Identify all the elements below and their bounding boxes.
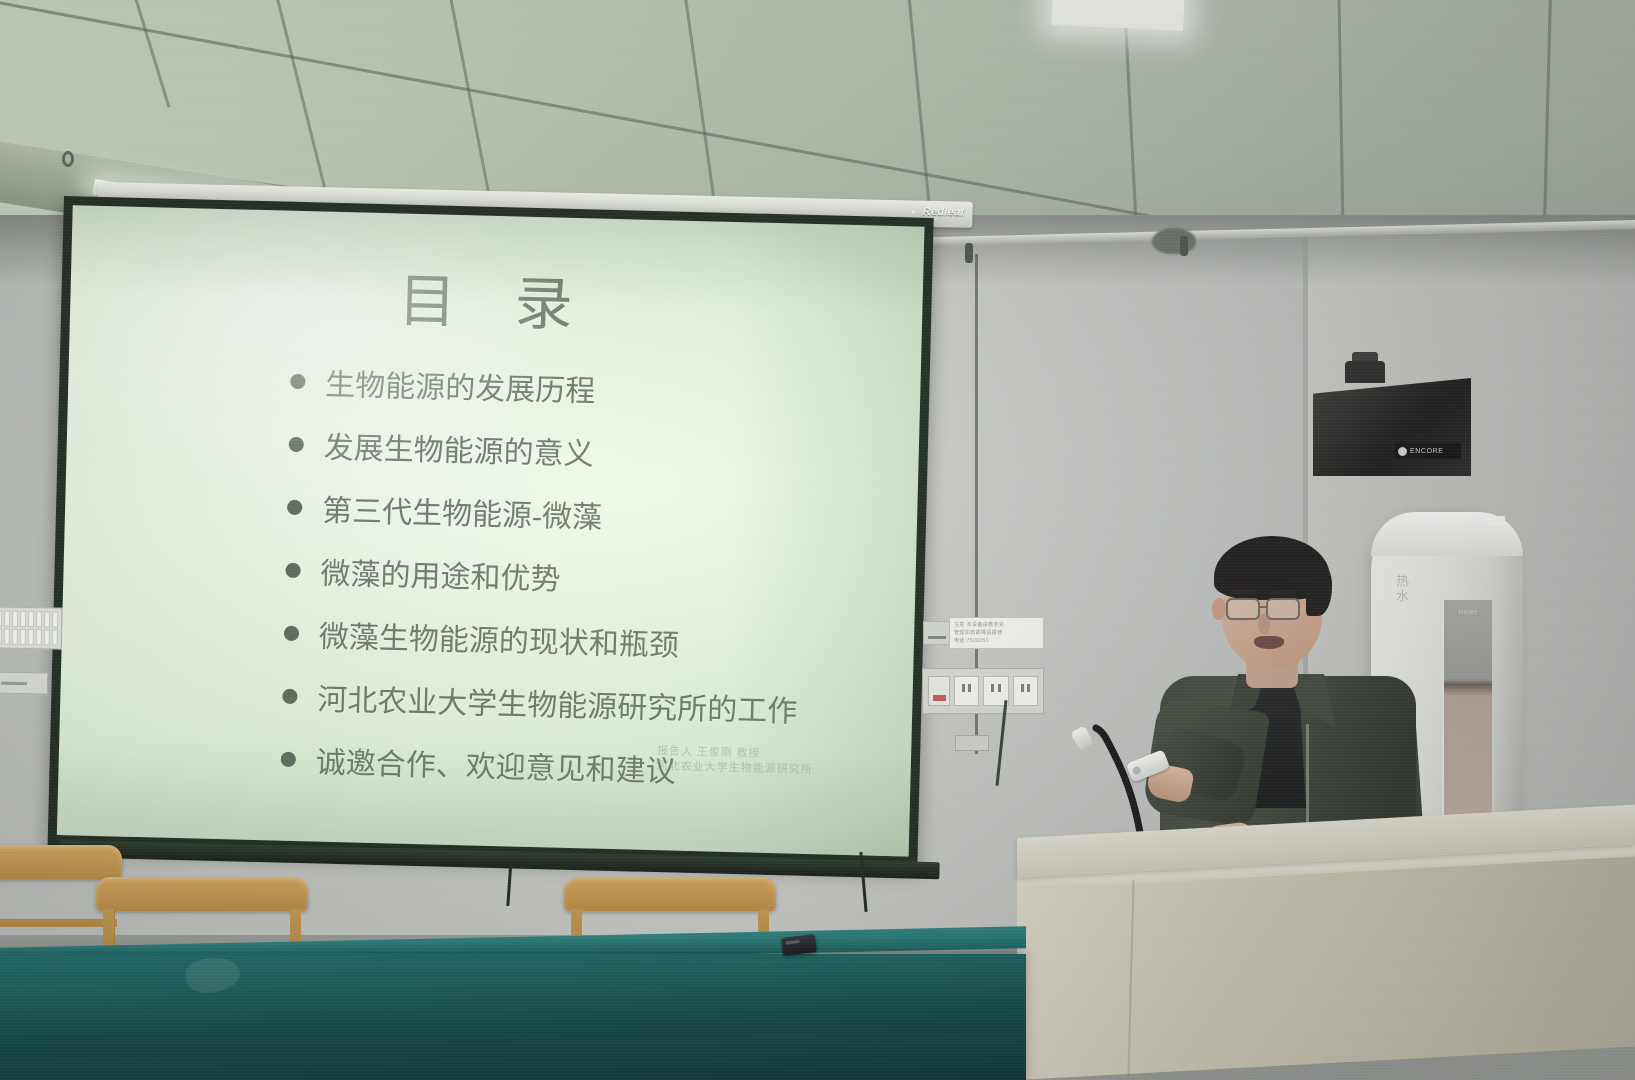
lecture-hall-photo: Redleaf 目 录 生物能源的发展历程 发展生物能源的意义: [0, 0, 1635, 1080]
wall-outlet-box[interactable]: [922, 668, 1044, 714]
outlet-socket[interactable]: [28, 611, 34, 627]
bullet-dot-icon: [281, 751, 296, 766]
bullet-text: 第三代生物能源-微藻: [322, 486, 603, 537]
bullet-dot-icon: [285, 562, 300, 577]
sign-line: 管理如有故障请报修: [954, 629, 1039, 637]
chair-backrest: [96, 877, 308, 911]
presenter-nose: [1258, 614, 1270, 634]
presenter-hair-side: [1306, 564, 1332, 616]
bullet-dot-icon: [282, 688, 297, 703]
wall-junction-box: [955, 735, 989, 751]
slide-footnote: 报告人 王俊刚 教授 河北农业大学生物能源研究所: [657, 744, 838, 779]
projection-screen-frame: 目 录 生物能源的发展历程 发展生物能源的意义 第三代生物能源-微藻: [48, 196, 934, 868]
podium: [1017, 838, 1635, 1080]
presenter-mouth: [1254, 636, 1284, 649]
wall-notice-sign: 注意:本设备由教务处 管理如有故障请报修 电话:7528351: [949, 617, 1044, 649]
list-item: 发展生物能源的意义: [288, 422, 879, 481]
outlet-socket[interactable]: [12, 611, 18, 627]
outlet-socket[interactable]: [1013, 676, 1038, 706]
screen-brand-label: Redleaf: [923, 206, 965, 219]
cable-bundle: [1152, 228, 1196, 254]
slide-content: 目 录 生物能源的发展历程 发展生物能源的意义 第三代生物能源-微藻: [57, 205, 925, 856]
bullet-dot-icon: [284, 625, 299, 640]
brand-bullet-icon: [911, 210, 914, 213]
ceiling-hook-icon: [62, 151, 74, 167]
outlet-socket[interactable]: [20, 629, 26, 645]
outlet-socket[interactable]: [36, 611, 42, 627]
circuit-breaker-switch[interactable]: [928, 676, 950, 706]
chair-backrest: [564, 877, 776, 911]
eyeglasses-lens-left: [1226, 598, 1260, 620]
outlet-socket[interactable]: [4, 611, 10, 627]
list-item: 微藻生物能源的现状和瓶颈: [283, 611, 874, 670]
list-item: 生物能源的发展历程: [290, 359, 881, 418]
list-item: 第三代生物能源-微藻: [287, 485, 878, 544]
projected-slide: 目 录 生物能源的发展历程 发展生物能源的意义 第三代生物能源-微藻: [57, 205, 925, 856]
presenter: [1150, 528, 1420, 858]
left-wall-switch-plate[interactable]: [0, 672, 48, 695]
bullet-text: 发展生物能源的意义: [323, 423, 594, 474]
speaker-brand-plate: ENCORE: [1395, 443, 1461, 459]
sign-line: 注意:本设备由教务处: [954, 621, 1039, 629]
wall-mounted-speaker: [1313, 378, 1471, 476]
slide-bullet-list: 生物能源的发展历程 发展生物能源的意义 第三代生物能源-微藻 微藻的用途和优势: [98, 354, 880, 795]
water-heater-cap: [1489, 516, 1505, 526]
list-item: 河北农业大学生物能源研究所的工作: [282, 674, 873, 733]
bullet-dot-icon: [289, 436, 304, 451]
outlet-socket[interactable]: [36, 629, 42, 645]
outlet-socket[interactable]: [12, 629, 18, 645]
bullet-text: 生物能源的发展历程: [325, 360, 596, 411]
bullet-text: 微藻的用途和优势: [320, 549, 561, 599]
wall-sign-bracket: [923, 621, 951, 645]
list-item: 微藻的用途和优势: [285, 548, 876, 607]
speaker-brand-label: ENCORE: [1410, 448, 1444, 455]
bullet-text: 微藻生物能源的现状和瓶颈: [318, 612, 679, 665]
outlet-socket[interactable]: [52, 629, 58, 645]
bullet-dot-icon: [290, 373, 305, 388]
sign-line: 电话:7528351: [954, 637, 1039, 645]
presenter-eyebrow-left: [1229, 590, 1257, 594]
outlet-socket[interactable]: [4, 629, 10, 645]
speaker-mount-bracket: [1345, 361, 1385, 383]
speaker-logo-icon: [1398, 447, 1407, 456]
outlet-socket[interactable]: [52, 611, 58, 627]
outlet-socket[interactable]: [20, 611, 26, 627]
chair-backrest: [0, 845, 122, 879]
outlet-socket[interactable]: [954, 676, 979, 706]
bullet-dot-icon: [287, 499, 302, 514]
eyeglasses-bridge: [1260, 606, 1268, 608]
bullet-text: 诚邀合作、欢迎意见和建议: [315, 738, 676, 791]
chair-rung: [0, 919, 117, 927]
slide-title: 目 录: [110, 246, 884, 350]
table-with-teal-cloth: [0, 954, 1026, 1080]
presenter-ear: [1212, 598, 1226, 620]
bullet-text: 河北农业大学生物能源研究所的工作: [317, 675, 798, 731]
outlet-socket[interactable]: [28, 629, 34, 645]
rail-hook-icon: [965, 243, 973, 263]
eyeglasses-lens-right: [1266, 598, 1300, 620]
left-wall-outlet-panel[interactable]: [0, 606, 62, 649]
outlet-socket[interactable]: [0, 628, 2, 644]
rail-hook-icon: [1180, 236, 1188, 256]
water-heater-brand-label: Haier: [1445, 605, 1491, 621]
outlet-socket[interactable]: [0, 610, 2, 626]
outlet-socket[interactable]: [44, 611, 50, 627]
outlet-socket[interactable]: [44, 629, 50, 645]
